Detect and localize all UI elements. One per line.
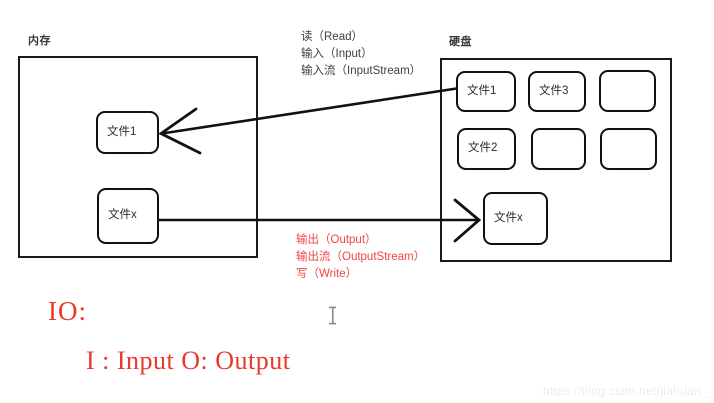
memory-file-box-x[interactable]: 文件x	[97, 188, 159, 244]
disk-file-box-2[interactable]: 文件2	[457, 128, 516, 170]
watermark: https://blog.csdn.net/jiahuan_	[543, 384, 708, 398]
disk-file-box-empty-2[interactable]	[531, 128, 586, 170]
read-annotation-line-3: 输入流（InputStream）	[301, 63, 421, 80]
write-annotation-line-1: 输出（Output）	[296, 232, 425, 249]
memory-container-label: 内存	[28, 32, 51, 48]
io-legend-title: IO:	[48, 296, 87, 327]
disk-file-box-empty-1[interactable]	[599, 70, 656, 112]
disk-file-box-3[interactable]: 文件3	[528, 71, 586, 112]
disk-file-label-1: 文件1	[458, 86, 496, 98]
diagram-canvas: 内存 文件1 文件x 硬盘 文件1 文件3 文件2 文件x	[0, 0, 714, 403]
disk-file-label-3: 文件3	[530, 86, 568, 98]
memory-file-label-1: 文件1	[98, 127, 136, 139]
read-annotation-line-1: 读（Read）	[301, 29, 421, 46]
text-caret-icon	[328, 306, 337, 325]
read-annotation-line-2: 输入（Input）	[301, 46, 421, 63]
disk-file-label-x: 文件x	[485, 213, 523, 225]
disk-file-box-empty-3[interactable]	[600, 128, 657, 170]
write-annotation-group: 输出（Output） 输出流（OutputStream） 写（Write）	[296, 232, 425, 283]
write-annotation-line-2: 输出流（OutputStream）	[296, 249, 425, 266]
write-annotation-line-3: 写（Write）	[296, 266, 425, 283]
memory-file-box-1[interactable]: 文件1	[96, 111, 159, 154]
memory-file-label-x: 文件x	[99, 210, 137, 222]
read-annotation-group: 读（Read） 输入（Input） 输入流（InputStream）	[301, 29, 421, 80]
io-legend-detail: I : Input O: Output	[86, 346, 291, 376]
disk-file-label-2: 文件2	[459, 143, 497, 155]
disk-file-box-x[interactable]: 文件x	[483, 192, 548, 245]
disk-file-box-1[interactable]: 文件1	[456, 71, 516, 112]
disk-container-label: 硬盘	[449, 33, 472, 49]
